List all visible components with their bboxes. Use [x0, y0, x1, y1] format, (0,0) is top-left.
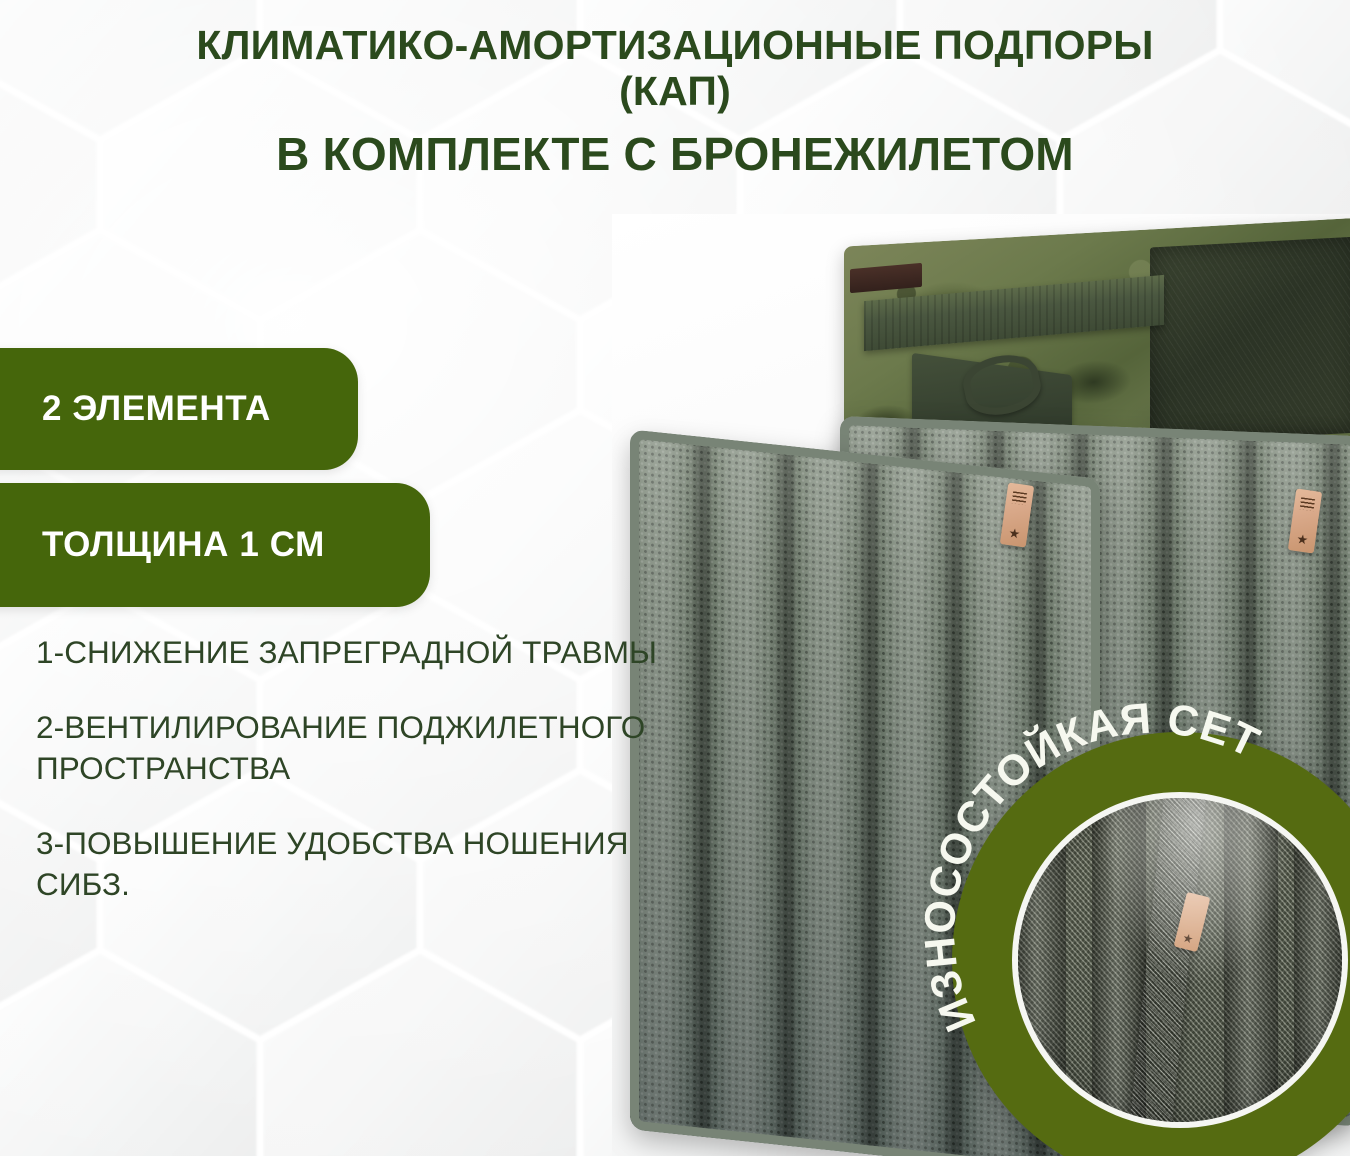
badge-elements-count: 2 ЭЛЕМЕНТА — [0, 348, 358, 470]
star-icon: ★ — [1296, 532, 1309, 546]
title-line-2: (КАП) — [0, 68, 1350, 114]
durable-mesh-seal: ★ ИЗНОСОСТОЙКАЯ СЕТКА — [952, 732, 1350, 1156]
title-line-1: КЛИМАТИКО-АМОРТИЗАЦИОННЫЕ ПОДПОРЫ — [0, 22, 1350, 68]
feature-item-3: 3-ПОВЫШЕНИЕ УДОБСТВА НОШЕНИЯ СИБЗ. — [36, 823, 666, 905]
feature-item-1: 1-СНИЖЕНИЕ ЗАПРЕГРАДНОЙ ТРАВМЫ — [36, 632, 666, 673]
feature-list: 1-СНИЖЕНИЕ ЗАПРЕГРАДНОЙ ТРАВМЫ 2-ВЕНТИЛИ… — [36, 632, 666, 905]
promo-banner: ★ ★ КЛИМАТИКО-АМОРТИЗАЦИОННЫЕ ПОДПОРЫ (К… — [0, 0, 1350, 1156]
seal-text-svg: ИЗНОСОСТОЙКАЯ СЕТКА — [952, 732, 1350, 1156]
badge-elements-label: 2 ЭЛЕМЕНТА — [42, 389, 271, 429]
badge-thickness-label: ТОЛЩИНА 1 СМ — [42, 525, 325, 565]
brand-tab-lines — [1300, 497, 1316, 511]
seal-label: ИЗНОСОСТОЙКАЯ СЕТКА — [916, 694, 1267, 1038]
brand-tab-lines — [1012, 491, 1028, 505]
seal-label-textpath: ИЗНОСОСТОЙКАЯ СЕТКА — [916, 694, 1267, 1038]
vest-velcro-panel — [1150, 236, 1350, 443]
badge-thickness: ТОЛЩИНА 1 СМ — [0, 483, 430, 607]
title-line-3: В КОМПЛЕКТЕ С БРОНЕЖИЛЕТОМ — [0, 129, 1350, 181]
page-title: КЛИМАТИКО-АМОРТИЗАЦИОННЫЕ ПОДПОРЫ (КАП) … — [0, 22, 1350, 181]
feature-item-2: 2-ВЕНТИЛИРОВАНИЕ ПОДЖИЛЕТНОГО ПРОСТРАНСТ… — [36, 707, 666, 789]
star-icon: ★ — [1008, 526, 1021, 540]
seal-curved-text: ИЗНОСОСТОЙКАЯ СЕТКА — [952, 732, 1350, 1156]
